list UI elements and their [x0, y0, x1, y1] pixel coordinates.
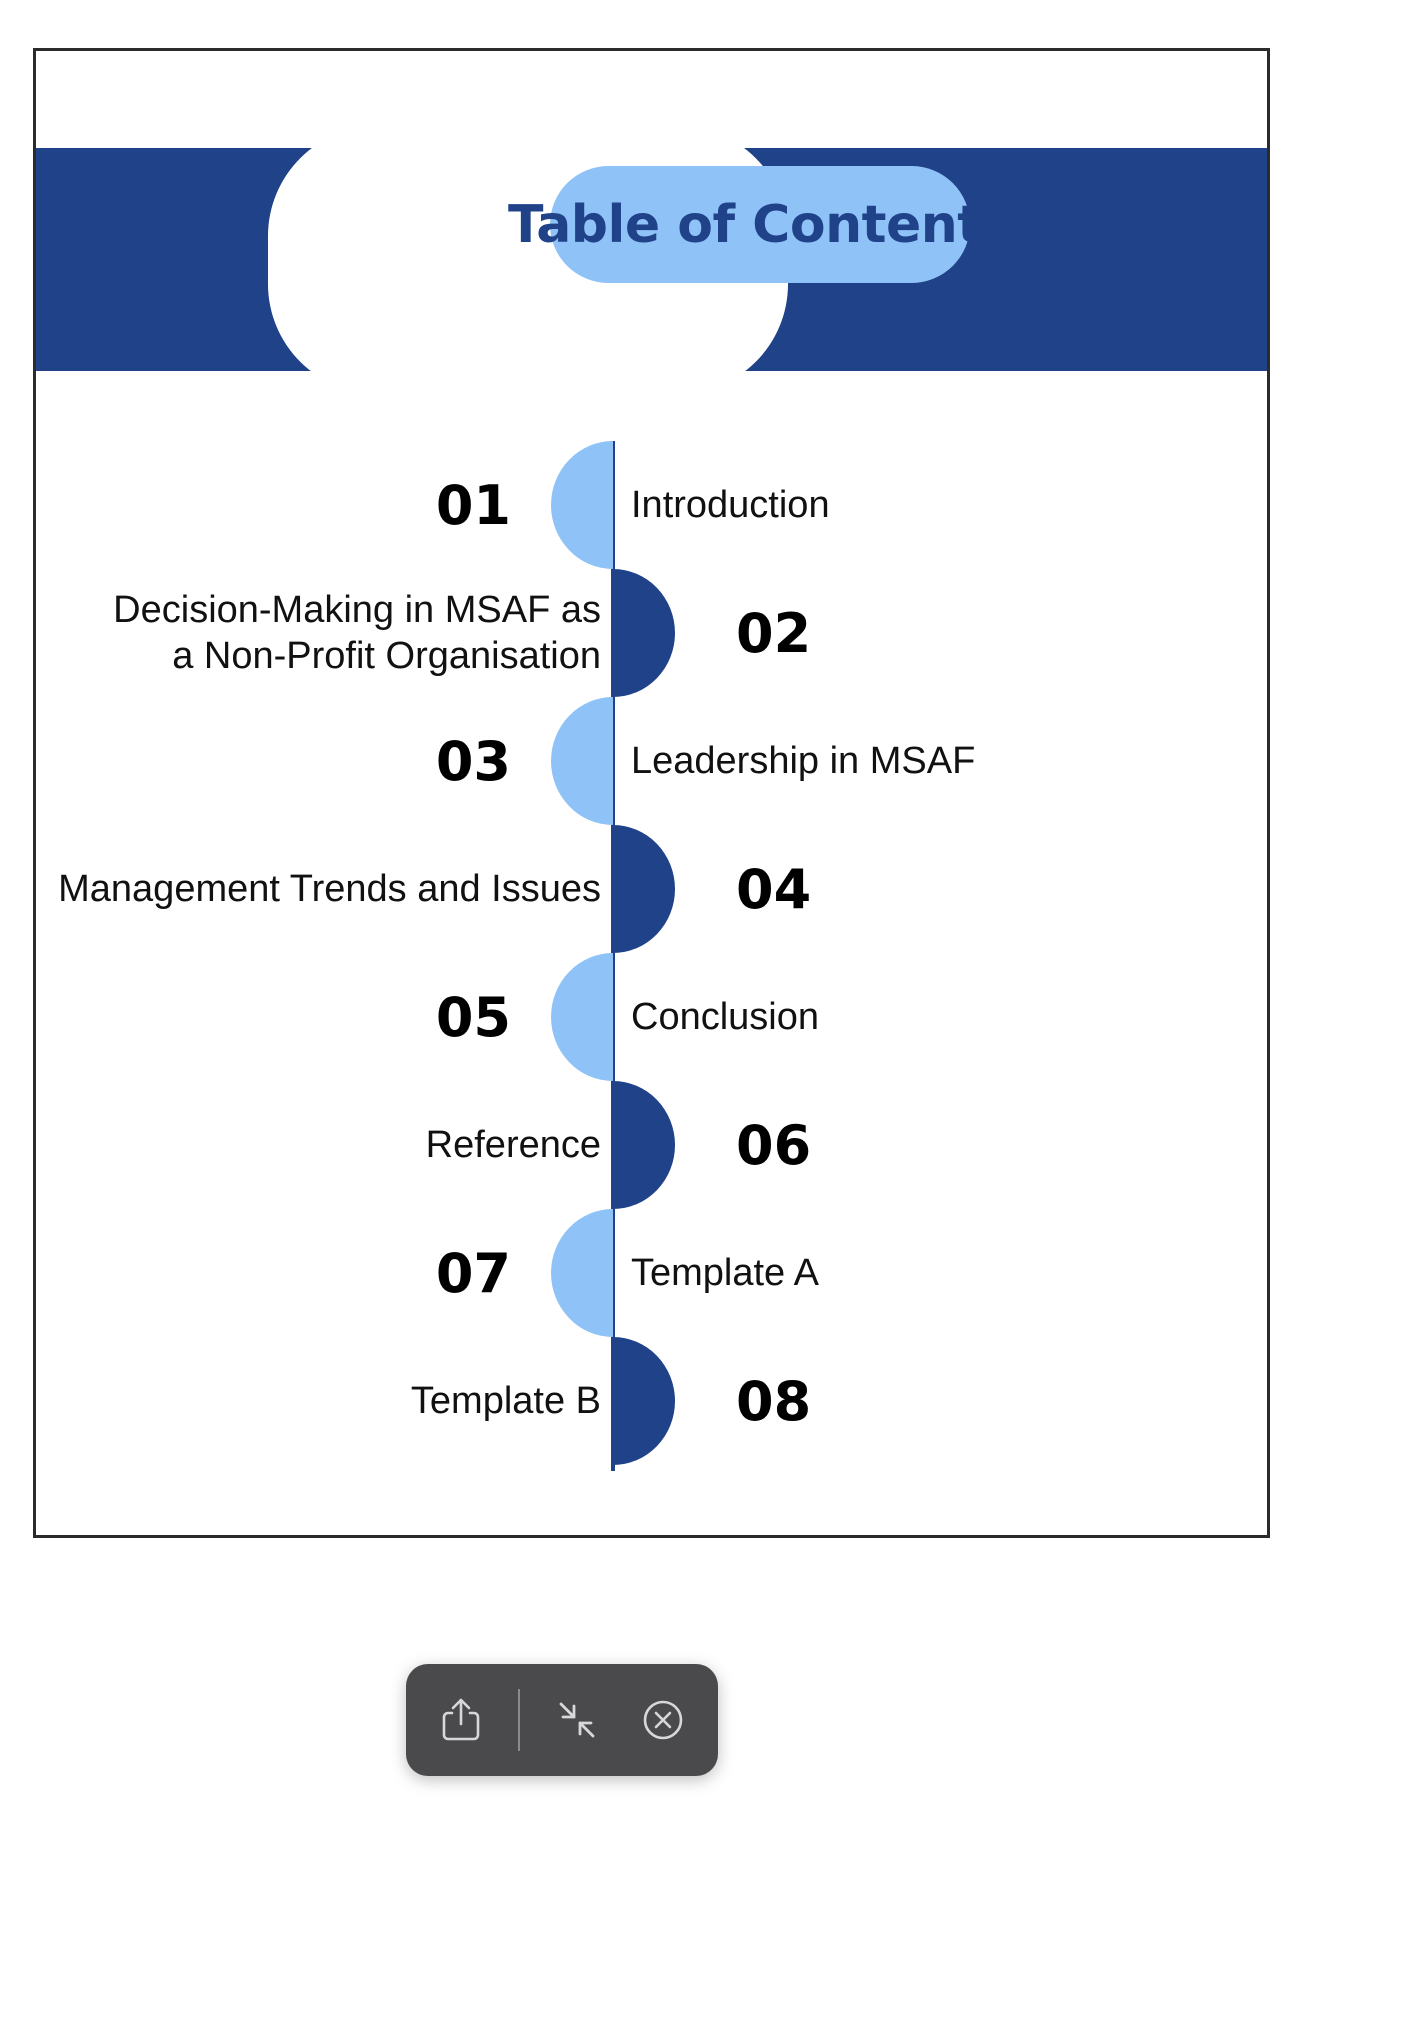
toc-entry-07[interactable]: 07 Template A: [36, 1209, 1270, 1337]
toc-marker-dark-icon: [613, 1337, 675, 1465]
collapse-button[interactable]: [548, 1691, 606, 1749]
toc-entry-02[interactable]: Decision-Making in MSAF as a Non-Profit …: [36, 569, 1270, 697]
toc-marker-dark-icon: [613, 569, 675, 697]
toc-entry-06[interactable]: Reference 06: [36, 1081, 1270, 1209]
toc-label: Template B: [411, 1337, 601, 1465]
toc-number: 06: [736, 1081, 811, 1209]
toc-label: Management Trends and Issues: [58, 825, 601, 953]
toc-number: 04: [736, 825, 811, 953]
toc-label: Decision-Making in MSAF as a Non-Profit …: [113, 569, 601, 697]
toolbar-divider: [518, 1689, 520, 1751]
toc-entry-03[interactable]: 03 Leadership in MSAF: [36, 697, 1270, 825]
page-title: Table of Contents: [508, 195, 1012, 255]
toc-marker-light-icon: [551, 1209, 613, 1337]
toc-entry-01[interactable]: 01 Introduction: [36, 441, 1270, 569]
toc-label-line1: Decision-Making in MSAF as: [113, 587, 601, 633]
toc-label: Leadership in MSAF: [631, 697, 975, 825]
toc-label: Conclusion: [631, 953, 819, 1081]
close-circle-icon: [640, 1697, 686, 1743]
toc-marker-light-icon: [551, 697, 613, 825]
toc-number: 05: [436, 953, 511, 1081]
toc-entry-05[interactable]: 05 Conclusion: [36, 953, 1270, 1081]
share-icon: [440, 1697, 482, 1743]
toc-number: 07: [436, 1209, 511, 1337]
toc-entry-04[interactable]: Management Trends and Issues 04: [36, 825, 1270, 953]
toc-number: 08: [736, 1337, 811, 1465]
table-of-contents: 01 Introduction Decision-Making in MSAF …: [36, 441, 1270, 1471]
toc-marker-light-icon: [551, 441, 613, 569]
toc-label: Reference: [426, 1081, 601, 1209]
header-title-pill: Table of Contents: [550, 166, 970, 283]
header-white-plate: Table of Contents: [268, 126, 788, 394]
toc-number: 01: [436, 441, 511, 569]
toc-marker-light-icon: [551, 953, 613, 1081]
toc-label: Introduction: [631, 441, 830, 569]
toc-label: Template A: [631, 1209, 819, 1337]
document-page: Table of Contents 01 Introduction Decisi…: [33, 48, 1270, 1538]
toc-marker-dark-icon: [613, 1081, 675, 1209]
toc-entry-08[interactable]: Template B 08: [36, 1337, 1270, 1465]
toc-label-line2: a Non-Profit Organisation: [113, 633, 601, 679]
toc-marker-dark-icon: [613, 825, 675, 953]
header-band: Table of Contents: [36, 148, 1270, 371]
share-button[interactable]: [432, 1691, 490, 1749]
floating-toolbar[interactable]: [406, 1664, 718, 1776]
collapse-icon: [555, 1698, 599, 1742]
toc-number: 02: [736, 569, 811, 697]
toc-number: 03: [436, 697, 511, 825]
close-button[interactable]: [634, 1691, 692, 1749]
